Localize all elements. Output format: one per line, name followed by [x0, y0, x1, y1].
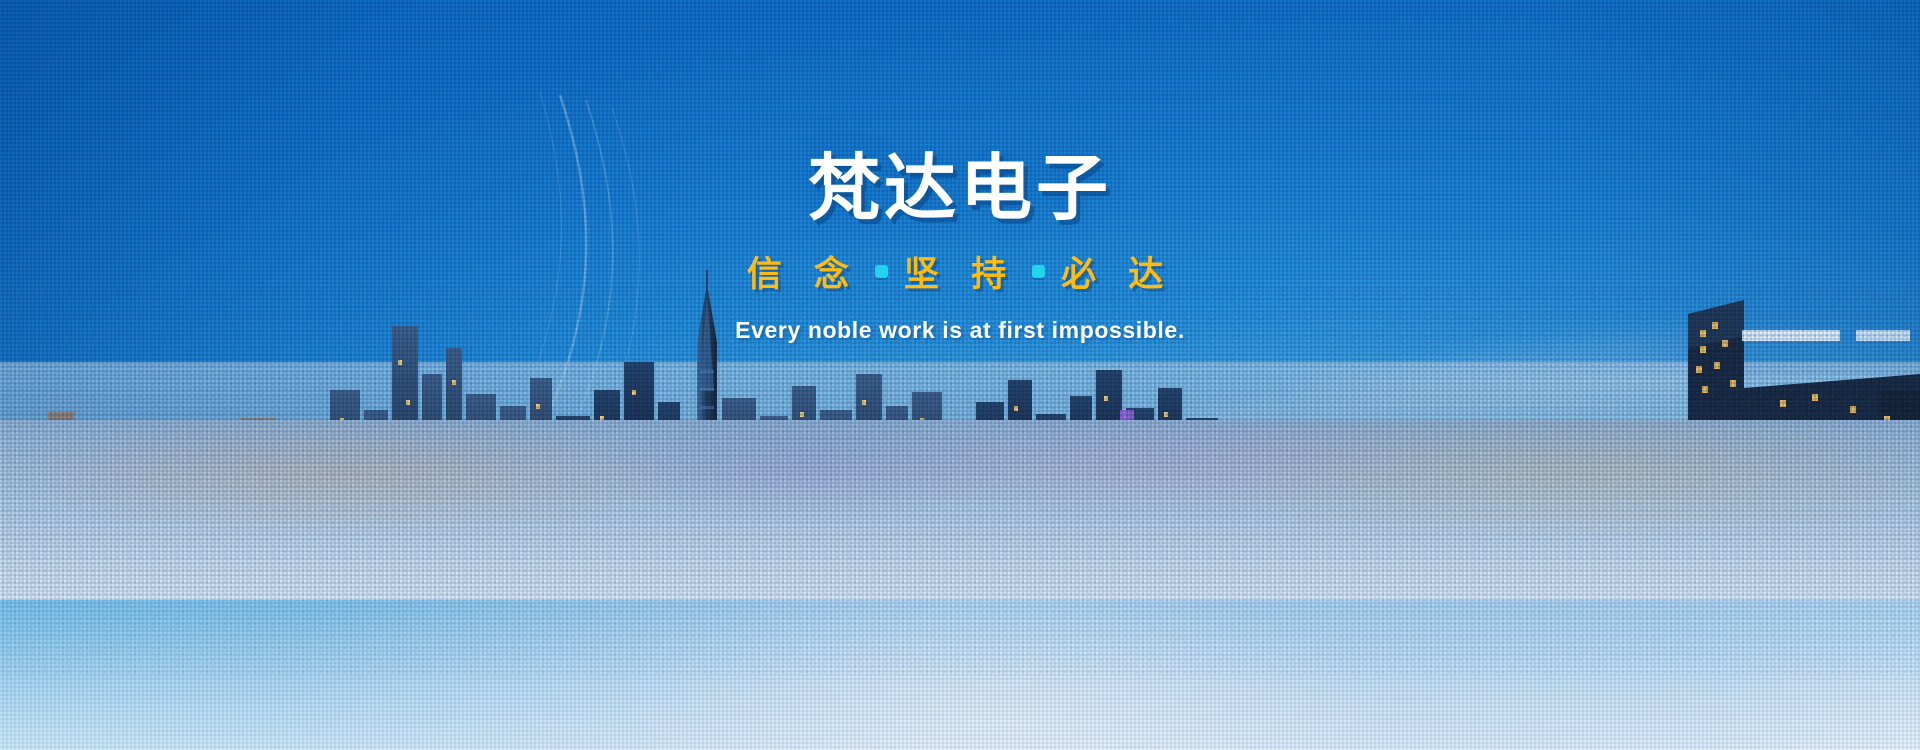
hero-text-block: 梵达电子 信 念 坚 持 必 达 Every noble work is at … [0, 0, 1920, 750]
hero-banner: 梵达电子 信 念 坚 持 必 达 Every noble work is at … [0, 0, 1920, 750]
slogan-separator-dot-icon [1032, 265, 1045, 278]
slogan-word-1: 信 念 [747, 246, 859, 297]
brand-slogan: 信 念 坚 持 必 达 [747, 246, 1174, 297]
slogan-separator-dot-icon [875, 265, 888, 278]
brand-tagline: Every noble work is at first impossible. [735, 317, 1185, 344]
brand-title: 梵达电子 [808, 152, 1112, 224]
slogan-word-2: 坚 持 [904, 246, 1016, 297]
slogan-word-3: 必 达 [1061, 246, 1173, 297]
